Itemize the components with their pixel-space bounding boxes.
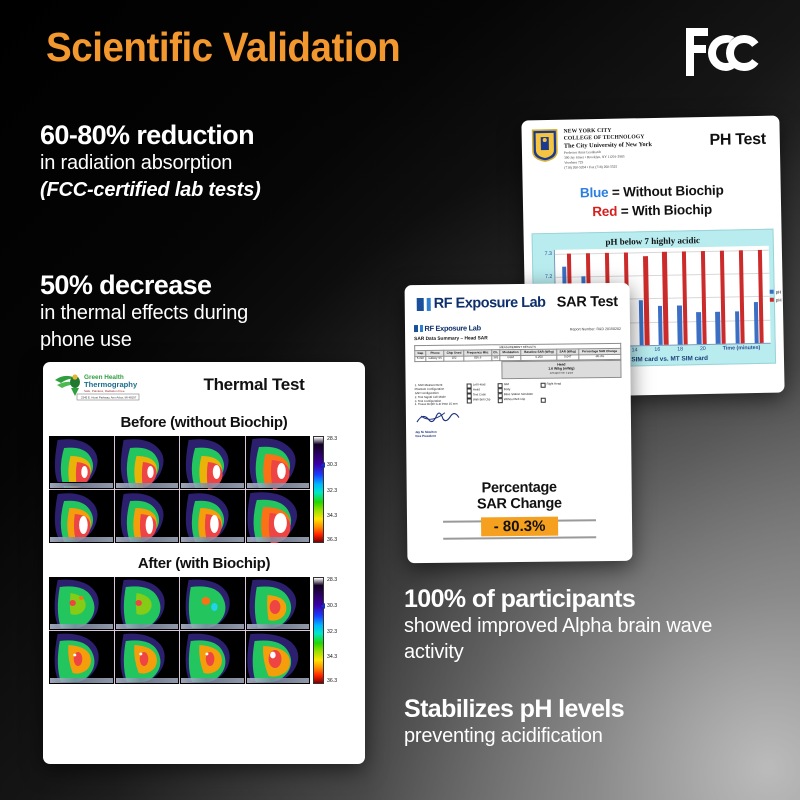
thermal-timestamp [50,678,113,683]
bar-standard [639,301,644,346]
claim-sub-italic: (FCC-certified lab tests) [40,177,261,203]
green-health-thermography-logo: Green Health Thermography Safe, Painless… [51,368,163,402]
thermal-image [246,436,311,489]
thermal-image [180,436,245,489]
measurement-results-table: MEASUREMENT RESULTS Gap Phone Chip Used … [414,343,621,362]
bar-standard [658,306,663,345]
thermal-timestamp [50,624,113,629]
y-tick: 7.2 [545,274,552,280]
bar-mt [739,250,745,343]
x-tick: 16 [654,347,660,353]
legend-label: pH MT [776,297,785,302]
bar-mt [758,250,764,343]
thermal-card-header: Green Health Thermography Safe, Painless… [43,362,365,402]
checkbox-row: Right Head [540,382,561,387]
logo-bar-icon [427,297,431,310]
claim-headline: 60-80% reduction [40,120,261,150]
logo-bar-icon [420,325,423,332]
claim-block-alpha: 100% of participants showed improved Alp… [404,585,712,666]
lab-name: RF Exposure Lab [434,295,546,312]
bar-mt [662,252,668,345]
bar-mt [700,251,706,344]
legend-item-mt: pH MT [770,297,785,303]
claim-sub-2: activity [404,639,712,665]
claim-sub: showed improved Alpha brain wave [404,613,712,639]
band-sub: 1.6 W/kg (mW/g) [548,366,574,370]
sar-report-document: RF Exposure Lab Report Number: R&D 20150… [414,322,622,439]
cell-phone: Galaxy S5 [426,356,444,362]
claim-sub: in radiation absorption [40,150,261,176]
bar-group [733,246,744,343]
thermal-image [49,490,114,543]
thermal-after-block: 28.3 30.3 32.3 34.3 36.3 [43,577,365,684]
chart-legend: pH standard pH MT [770,289,785,306]
scale-tick: 30.3 [327,462,337,468]
checkbox-label: Without Belt Clip [504,398,525,402]
sar-card-header: RF Exposure Lab SAR Test [405,283,630,312]
thermal-scale-ticks: 28.3 30.3 32.3 34.3 36.3 [327,577,359,684]
scale-tick: 28.3 [327,436,337,442]
report-header-row: RF Exposure Lab Report Number: R&D 20150… [414,322,621,333]
checkbox-row [540,397,561,402]
x-tick: 20 [700,346,706,352]
thermal-image [246,577,311,630]
x-axis-title: Time (minutes) [723,345,761,352]
scale-marker-arrow-icon [321,462,325,468]
bar-group [657,248,668,345]
thermal-image [49,631,114,684]
thermal-color-scale [313,577,324,684]
bar-mt [681,251,687,344]
thermal-image [180,490,245,543]
key-row-red: Red = With Biochip [523,199,781,224]
thermal-scale-after: 28.3 30.3 32.3 34.3 36.3 [310,577,359,684]
lab-name: RF Exposure Lab [424,323,480,333]
thermal-timestamp [116,537,179,542]
bar-standard [677,306,682,345]
thermal-image-grid-after [49,577,310,684]
thermal-timestamp [50,483,113,488]
signature-icon [415,410,461,426]
fcc-logo [680,22,764,84]
legend-swatch-blue [770,290,774,294]
checkbox[interactable] [540,398,545,403]
thermal-timestamp [247,483,310,488]
ph-card-header: NEW YORK CITY COLLEGE OF TECHNOLOGY The … [521,116,780,172]
university-name-block: NEW YORK CITY COLLEGE OF TECHNOLOGY The … [564,127,653,170]
thermal-image [115,490,180,543]
cell-sar: 0.047 [557,355,578,361]
bar-group [638,248,649,345]
thermal-timestamp [181,483,244,488]
thermal-after-label: After (with Biochip) [43,555,365,572]
thermal-image [246,631,311,684]
claim-headline: Stabilizes pH levels [404,695,624,723]
bar-standard [754,302,759,343]
rf-exposure-lab-logo: RF Exposure Lab [417,295,546,312]
cell-chip: 182 [444,356,464,362]
claim-block-radiation: 60-80% reduction in radiation absorption… [40,120,261,203]
thermal-timestamp [116,624,179,629]
percentage-value: - 80.3% [481,517,559,537]
thermal-timestamp [181,678,244,683]
checkbox-column-3: Right Head x x [540,382,561,406]
note-line: 4. Tissue Depth is at least 15 mm [415,403,458,407]
key-red-text: = With Biochip [617,202,712,219]
signature-block: Jay M. Moulton Vice President [415,408,622,438]
report-number: Report Number: R&D 20150202 [570,327,621,332]
checkbox-column-2: SIM Body Base Station Simulator Without … [497,383,533,407]
legend-swatch-red [770,298,774,302]
infographic-canvas: Scientific Validation 60-80% reduction i… [0,0,800,800]
claim-block-ph: Stabilizes pH levels preventing acidific… [404,695,624,749]
rf-exposure-lab-logo-small: RF Exposure Lab [414,323,481,333]
report-subtitle: SAR Data Summary – Head SAR [414,335,621,342]
bar-mt [643,256,649,345]
thermal-image [49,577,114,630]
band-cell: Head 1.6 W/kg (mW/g) averaged over 1 gra… [502,361,621,379]
checkbox-label: With Belt Clip [473,399,490,403]
cell-gap: 5 mm [415,356,426,361]
cell-freq: 836.6 [464,356,492,362]
thermal-scale-before: 28.3 30.3 32.3 34.3 36.3 [310,436,359,543]
org-line-7: (718) 260-5204 • Fax (718) 260-5525 [564,164,652,171]
notes-text-column: 1. SAR Measurement: Phantom Configuratio… [415,383,458,407]
scale-tick: 34.3 [327,513,337,519]
scale-tick: 36.3 [327,537,337,543]
ph-legend-key: Blue = Without Biochip Red = With Biochi… [523,179,782,223]
band-limit-table: Head 1.6 W/kg (mW/g) averaged over 1 gra… [501,360,621,379]
svg-text:Thermography: Thermography [84,380,138,389]
thermal-scale-ticks: 28.3 30.3 32.3 34.3 36.3 [327,436,359,543]
thermal-image-grid-before [49,436,310,543]
scale-tick: 34.3 [327,654,337,660]
checkbox-label: Right Head [547,383,562,387]
key-red-word: Red [592,204,617,219]
ph-card-title: PH Test [658,125,770,151]
logo-square-icon [414,325,418,332]
bar-mt [720,250,726,343]
percentage-sar-change-callout: Percentage SAR Change - 80.3% [407,479,633,543]
cell-ch: 383 [491,355,500,360]
svg-text:Safe, Painless, Radiation Free: Safe, Painless, Radiation Free [84,389,125,393]
page-title: Scientific Validation [46,24,400,71]
checkbox[interactable] [466,398,471,403]
claim-sub-2: phone use [40,327,248,353]
thermal-image [115,577,180,630]
bar-group [714,247,725,344]
thermal-image [246,490,311,543]
band-note: averaged over 1 gram [550,371,573,374]
scale-marker-arrow-icon [321,603,325,609]
signature-role: Vice President [415,433,622,439]
checkbox-row: Without Belt Clip [497,398,533,403]
thermal-color-scale [313,436,324,543]
bar-group [695,247,706,344]
scale-tick: 32.3 [327,629,337,635]
thermal-image [115,436,180,489]
x-tick: 18 [677,346,683,352]
claim-block-thermal: 50% decrease in thermal effects during p… [40,270,248,353]
cell-baseline: 0.250 [521,355,557,361]
key-blue-text: = Without Biochip [608,182,723,199]
thermal-image [49,436,114,489]
scale-tick: 32.3 [327,488,337,494]
checkbox[interactable] [540,383,545,388]
thermal-timestamp [181,624,244,629]
claim-sub: preventing acidification [404,723,624,749]
thermal-timestamp [247,537,310,542]
bar-standard [735,311,740,343]
thermal-timestamp [116,678,179,683]
citytech-crest-icon [532,129,559,162]
thermal-timestamp [181,537,244,542]
thermal-image [115,631,180,684]
thermal-before-label: Before (without Biochip) [43,414,365,431]
sar-card-title: SAR Test [545,294,617,311]
bar-standard [696,312,701,344]
claim-headline: 100% of participants [404,585,712,613]
scale-tick: 36.3 [327,678,337,684]
scale-tick: 30.3 [327,603,337,609]
claim-sub: in thermal effects during [40,300,248,326]
legend-item-standard: pH standard [770,289,785,295]
claim-headline: 50% decrease [40,270,248,300]
bar-standard [716,312,721,344]
thermal-test-card: Green Health Thermography Safe, Painless… [43,362,365,764]
bar-group [752,246,763,343]
callout-line-2: SAR Change [407,495,632,514]
thermal-before-block: 28.3 30.3 32.3 34.3 36.3 [43,436,365,543]
key-blue-word: Blue [580,185,609,201]
thermal-image [180,577,245,630]
thermal-card-title: Thermal Test [163,375,357,395]
sar-test-card: RF Exposure Lab SAR Test RF Exposure Lab… [405,283,633,563]
y-tick: 7.3 [544,251,551,257]
bar-group [676,247,687,344]
checkbox-row: With Belt Clip [466,398,490,403]
logo-square-icon [417,297,424,310]
svg-text:2345 E. Hurst Parkway, Ann Arb: 2345 E. Hurst Parkway, Ann Arbor, MI 481… [81,396,137,400]
thermal-timestamp [247,678,310,683]
thermal-timestamp [50,537,113,542]
report-notes: 1. SAR Measurement: Phantom Configuratio… [415,382,622,408]
thermal-timestamp [247,624,310,629]
cell-modulation: GSM [500,355,521,361]
checkbox[interactable] [497,398,502,403]
scale-tick: 28.3 [327,577,337,583]
thermal-timestamp [116,483,179,488]
thermal-image [180,631,245,684]
legend-label: pH standard [776,289,785,294]
checkbox-column-1: Left Head Head Test Code With Belt Clip [466,383,490,407]
x-tick: 14 [632,347,638,353]
